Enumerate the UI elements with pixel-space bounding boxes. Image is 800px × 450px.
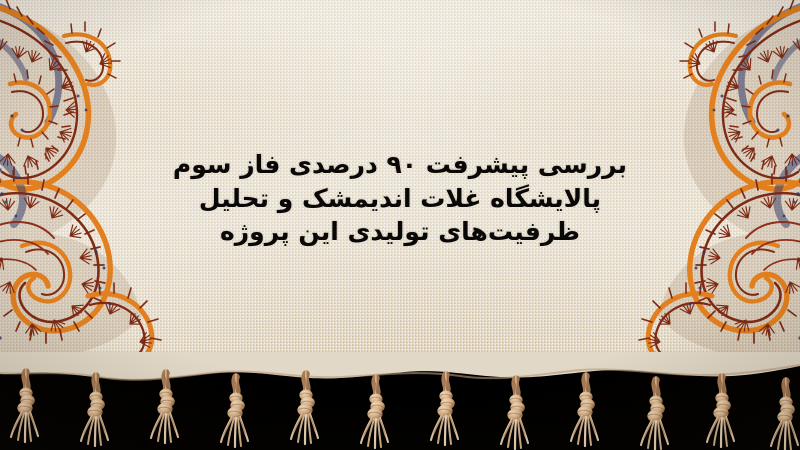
headline-line-3: ظرفیت‌های تولیدی این پروژه (0, 215, 800, 249)
headline-block: بررسی پیشرفت ۹۰ درصدی فاز سوم پالایشگاه … (0, 148, 800, 249)
headline-line-2: پالایشگاه غلات اندیمشک و تحلیل (0, 182, 800, 216)
textile-banner-canvas: بررسی پیشرفت ۹۰ درصدی فاز سوم پالایشگاه … (0, 0, 800, 450)
headline-line-1: بررسی پیشرفت ۹۰ درصدی فاز سوم (0, 148, 800, 182)
